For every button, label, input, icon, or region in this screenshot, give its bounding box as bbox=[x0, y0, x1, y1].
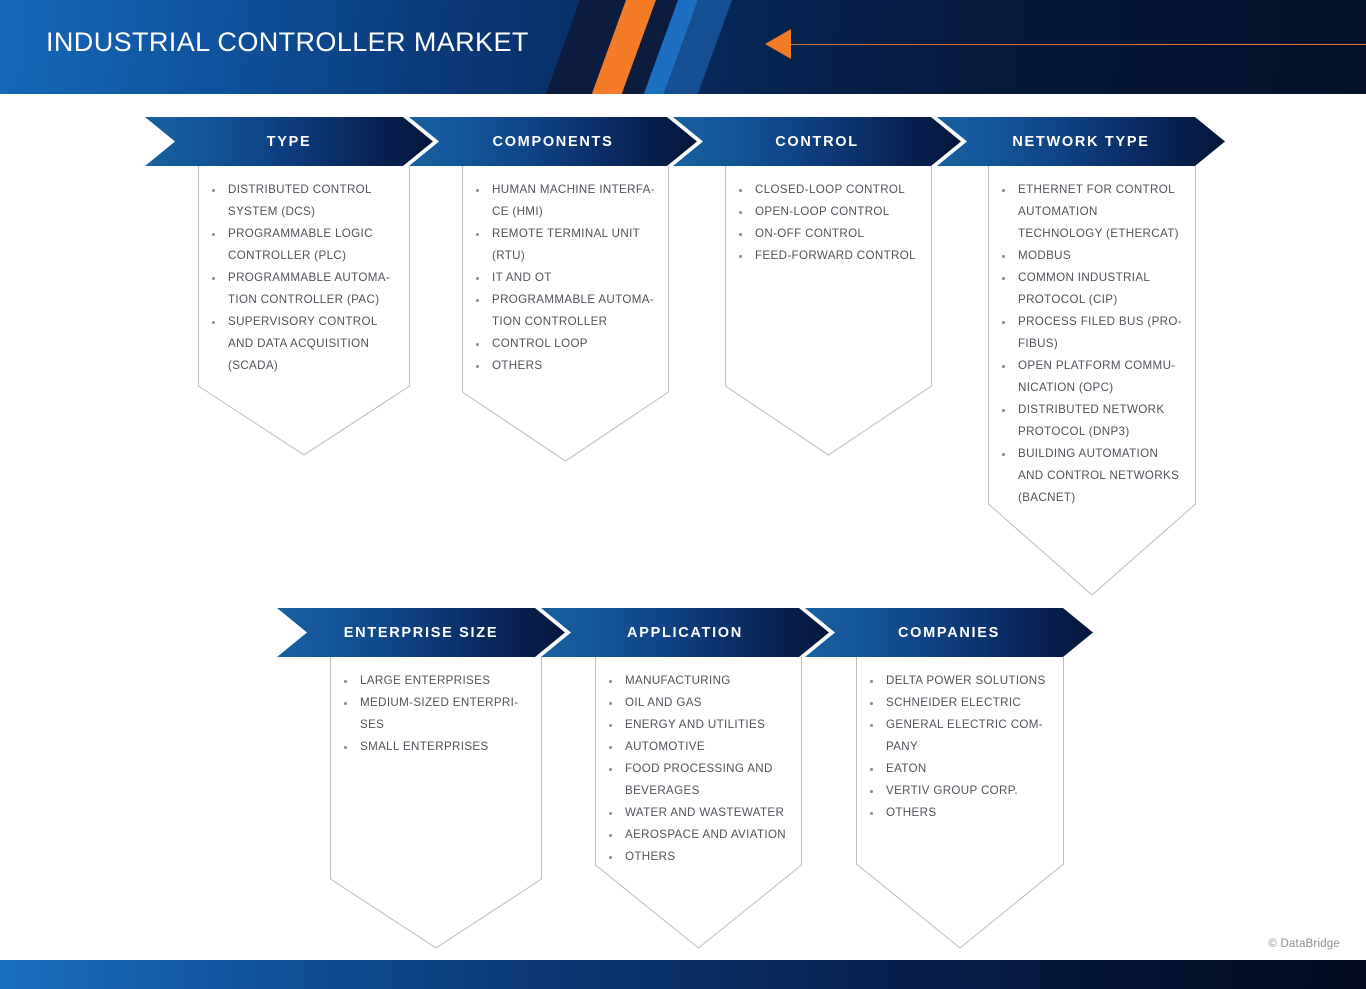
list-item: SMALL ENTERPRISES bbox=[360, 736, 528, 758]
panel-control: CLOSED-LOOP CONTROL OPEN-LOOP CONTROL ON… bbox=[725, 166, 932, 456]
list-item: SCHNEIDER ELECTRIC bbox=[886, 692, 1050, 714]
list-item: WATER AND WASTEWATER bbox=[625, 802, 788, 824]
list-item: REMOTE TERMINAL UNIT (RTU) bbox=[492, 223, 655, 267]
list-application: MANUFACTURING OIL AND GAS ENERGY AND UTI… bbox=[595, 657, 802, 868]
panel-enterprise-size: LARGE ENTERPRISES MEDIUM-SIZED ENTERPRI-… bbox=[330, 657, 542, 949]
list-item: COMMON INDUSTRIAL PROTOCOL (CIP) bbox=[1018, 267, 1182, 311]
banner-companies[interactable]: COMPANIES bbox=[805, 608, 1093, 657]
list-item: FEED-FORWARD CONTROL bbox=[755, 245, 918, 267]
list-control: CLOSED-LOOP CONTROL OPEN-LOOP CONTROL ON… bbox=[725, 166, 932, 267]
list-item: EATON bbox=[886, 758, 1050, 780]
page-title: INDUSTRIAL CONTROLLER MARKET bbox=[46, 27, 529, 58]
copyright-credit: © DataBridge bbox=[1268, 938, 1340, 950]
list-item: SUPERVISORY CONTROL AND DATA ACQUISITION… bbox=[228, 311, 396, 377]
list-item: DISTRIBUTED NETWORK PROTOCOL (DNP3) bbox=[1018, 399, 1182, 443]
list-item: OPEN PLATFORM COMMU-NICATION (OPC) bbox=[1018, 355, 1182, 399]
banner-components[interactable]: COMPONENTS bbox=[409, 117, 697, 166]
list-item: MANUFACTURING bbox=[625, 670, 788, 692]
list-item: PROCESS FILED BUS (PRO-FIBUS) bbox=[1018, 311, 1182, 355]
banner-control[interactable]: CONTROL bbox=[673, 117, 961, 166]
list-item: AUTOMOTIVE bbox=[625, 736, 788, 758]
banner-application[interactable]: APPLICATION bbox=[541, 608, 829, 657]
slide-canvas: INDUSTRIAL CONTROLLER MARKET TYPE DISTRI… bbox=[0, 0, 1366, 989]
list-type: DISTRIBUTED CONTROL SYSTEM (DCS) PROGRAM… bbox=[198, 166, 410, 377]
list-item: OIL AND GAS bbox=[625, 692, 788, 714]
list-item: OPEN-LOOP CONTROL bbox=[755, 201, 918, 223]
banner-label-application: APPLICATION bbox=[627, 625, 743, 641]
banner-label-companies: COMPANIES bbox=[898, 625, 1000, 641]
banner-enterprise-size[interactable]: ENTERPRISE SIZE bbox=[277, 608, 565, 657]
banner-label-type: TYPE bbox=[267, 134, 312, 150]
list-item: IT AND OT bbox=[492, 267, 655, 289]
footer-bar bbox=[0, 960, 1366, 989]
panel-network-type: ETHERNET FOR CONTROL AUTOMATION TECHNOLO… bbox=[988, 166, 1196, 596]
panel-application: MANUFACTURING OIL AND GAS ENERGY AND UTI… bbox=[595, 657, 802, 949]
list-item: DISTRIBUTED CONTROL SYSTEM (DCS) bbox=[228, 179, 396, 223]
list-item: MODBUS bbox=[1018, 245, 1182, 267]
list-enterprise-size: LARGE ENTERPRISES MEDIUM-SIZED ENTERPRI-… bbox=[330, 657, 542, 758]
list-item: ON-OFF CONTROL bbox=[755, 223, 918, 245]
list-item: CLOSED-LOOP CONTROL bbox=[755, 179, 918, 201]
banner-label-enterprise-size: ENTERPRISE SIZE bbox=[344, 625, 498, 641]
list-item: FOOD PROCESSING AND BEVERAGES bbox=[625, 758, 788, 802]
list-item: BUILDING AUTOMATION AND CONTROL NETWORKS… bbox=[1018, 443, 1182, 509]
list-item: GENERAL ELECTRIC COM-PANY bbox=[886, 714, 1050, 758]
list-item: PROGRAMMABLE AUTOMA-TION CONTROLLER (PAC… bbox=[228, 267, 396, 311]
panel-components: HUMAN MACHINE INTERFA-CE (HMI) REMOTE TE… bbox=[462, 166, 669, 462]
panel-companies: DELTA POWER SOLUTIONS SCHNEIDER ELECTRIC… bbox=[856, 657, 1064, 949]
list-item: AEROSPACE AND AVIATION bbox=[625, 824, 788, 846]
list-companies: DELTA POWER SOLUTIONS SCHNEIDER ELECTRIC… bbox=[856, 657, 1064, 824]
list-item: LARGE ENTERPRISES bbox=[360, 670, 528, 692]
page-header: INDUSTRIAL CONTROLLER MARKET bbox=[0, 0, 1366, 94]
banner-network-type[interactable]: NETWORK TYPE bbox=[937, 117, 1225, 166]
banner-label-components: COMPONENTS bbox=[493, 134, 614, 150]
banner-type[interactable]: TYPE bbox=[145, 117, 433, 166]
list-item: PROGRAMMABLE AUTOMA-TION CONTROLLER bbox=[492, 289, 655, 333]
list-item: OTHERS bbox=[492, 355, 655, 377]
header-rule bbox=[790, 44, 1366, 45]
list-item: ETHERNET FOR CONTROL AUTOMATION TECHNOLO… bbox=[1018, 179, 1182, 245]
list-item: MEDIUM-SIZED ENTERPRI-SES bbox=[360, 692, 528, 736]
list-item: DELTA POWER SOLUTIONS bbox=[886, 670, 1050, 692]
list-network-type: ETHERNET FOR CONTROL AUTOMATION TECHNOLO… bbox=[988, 166, 1196, 509]
list-item: VERTIV GROUP CORP. bbox=[886, 780, 1050, 802]
list-item: CONTROL LOOP bbox=[492, 333, 655, 355]
banner-label-control: CONTROL bbox=[775, 134, 859, 150]
banner-label-network-type: NETWORK TYPE bbox=[1012, 134, 1149, 150]
list-item: PROGRAMMABLE LOGIC CONTROLLER (PLC) bbox=[228, 223, 396, 267]
list-item: ENERGY AND UTILITIES bbox=[625, 714, 788, 736]
list-components: HUMAN MACHINE INTERFA-CE (HMI) REMOTE TE… bbox=[462, 166, 669, 377]
panel-type: DISTRIBUTED CONTROL SYSTEM (DCS) PROGRAM… bbox=[198, 166, 410, 456]
list-item: OTHERS bbox=[625, 846, 788, 868]
left-arrow-icon bbox=[765, 29, 791, 59]
list-item: OTHERS bbox=[886, 802, 1050, 824]
list-item: HUMAN MACHINE INTERFA-CE (HMI) bbox=[492, 179, 655, 223]
